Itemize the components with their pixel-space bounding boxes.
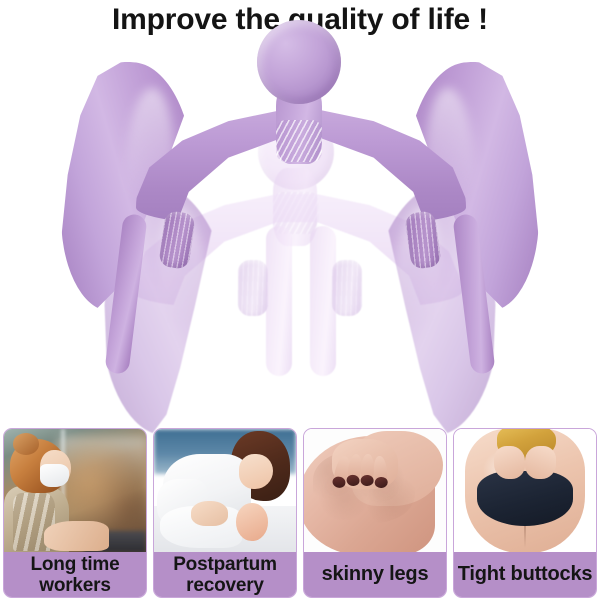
caption-postpartum-recovery: Postpartum recovery bbox=[154, 552, 296, 597]
head-knob-icon bbox=[257, 20, 341, 104]
caption-tight-buttocks: Tight buttocks bbox=[454, 552, 596, 597]
photo-long-time-workers bbox=[4, 429, 146, 553]
benefit-panel-tight-buttocks[interactable]: Tight buttocks bbox=[453, 428, 597, 598]
caption-skinny-legs: skinny legs bbox=[304, 552, 446, 597]
rib-texture bbox=[276, 120, 322, 162]
pad-left bbox=[158, 210, 196, 270]
benefit-panel-row: Long time workers Postpartum recover bbox=[3, 428, 597, 598]
benefit-panel-long-time-workers[interactable]: Long time workers bbox=[3, 428, 147, 598]
caption-long-time-workers: Long time workers bbox=[4, 552, 146, 597]
product-main bbox=[70, 38, 530, 418]
product-stage bbox=[70, 38, 530, 418]
benefit-panel-postpartum-recovery[interactable]: Postpartum recovery bbox=[153, 428, 297, 598]
photo-postpartum-recovery bbox=[154, 429, 296, 553]
hero-product-area bbox=[0, 38, 600, 418]
benefit-panel-skinny-legs[interactable]: skinny legs bbox=[303, 428, 447, 598]
photo-skinny-legs bbox=[304, 429, 446, 553]
photo-tight-buttocks bbox=[454, 429, 596, 553]
product-marketing-image: Improve the quality of life ! bbox=[0, 0, 600, 600]
